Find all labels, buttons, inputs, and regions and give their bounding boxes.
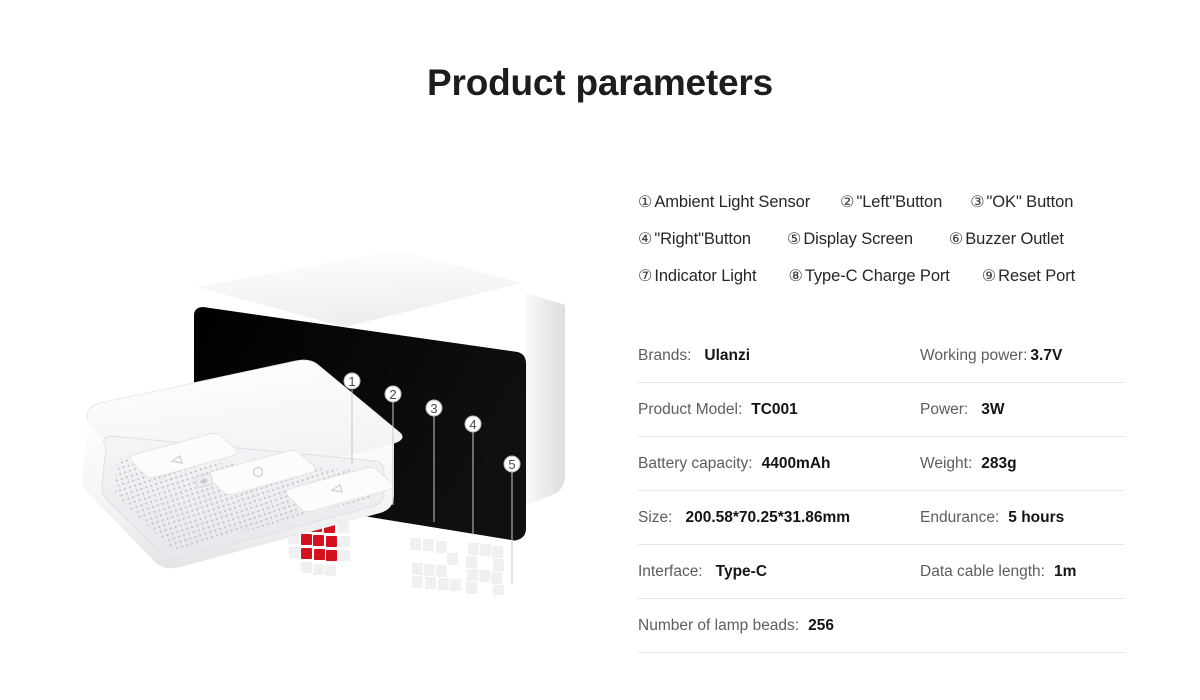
legend-label: Reset Port <box>998 267 1075 286</box>
table-row: Number of lamp beads: 256 <box>638 599 1124 653</box>
legend-item-6: ⑥ Buzzer Outlet <box>949 229 1064 249</box>
spec-value: 4400mAh <box>762 455 831 473</box>
legend-item-8: ⑧ Type-C Charge Port <box>789 266 950 286</box>
spec-cell-brands: Brands: Ulanzi <box>638 347 920 365</box>
table-row: Battery capacity: 4400mAh Weight: 283g <box>638 437 1124 491</box>
spec-cell-working-power: Working power: 3.7V <box>920 347 1124 365</box>
spec-cell-data-cable-length: Data cable length: 1m <box>920 563 1124 581</box>
legend-label: "OK" Button <box>987 193 1074 212</box>
circled-number-icon: ③ <box>970 192 984 212</box>
led-digit-ones <box>466 543 504 595</box>
spec-value: 1m <box>1054 563 1076 581</box>
spec-value: 5 hours <box>1008 509 1064 527</box>
spec-label: Endurance: <box>920 509 999 527</box>
spec-cell-weight: Weight: 283g <box>920 455 1124 473</box>
page-title: Product parameters <box>0 62 1200 104</box>
spec-label: Number of lamp beads: <box>638 617 799 635</box>
spec-label: Power: <box>920 401 968 419</box>
legend-label: Type-C Charge Port <box>805 267 950 286</box>
circled-number-icon: ① <box>638 192 652 212</box>
spec-cell-power: Power: 3W <box>920 401 1124 419</box>
spec-value: Type-C <box>716 563 767 581</box>
svg-text:3: 3 <box>430 401 437 416</box>
spec-value: TC001 <box>751 401 798 419</box>
callout-2: 2 <box>385 386 401 402</box>
legend-item-2: ② "Left"Button <box>840 192 942 212</box>
info-column: ① Ambient Light Sensor ② "Left"Button ③ … <box>638 192 1128 653</box>
legend-item-1: ① Ambient Light Sensor <box>638 192 810 212</box>
spec-value: 283g <box>981 455 1016 473</box>
spec-cell-interface: Interface: Type-C <box>638 563 920 581</box>
legend-label: Indicator Light <box>654 267 756 286</box>
product-illustration: 1 2 3 4 5 6 7 8 <box>60 175 600 595</box>
spec-label: Product Model: <box>638 401 742 419</box>
callout-3: 3 <box>426 400 442 416</box>
parts-legend: ① Ambient Light Sensor ② "Left"Button ③ … <box>638 192 1128 303</box>
legend-label: Ambient Light Sensor <box>654 193 810 212</box>
circled-number-icon: ⑨ <box>982 266 996 286</box>
spec-value: 200.58*70.25*31.86mm <box>685 509 850 527</box>
spec-label: Data cable length: <box>920 563 1045 581</box>
led-digit-tens <box>410 538 461 591</box>
table-row: Product Model: TC001 Power: 3W <box>638 383 1124 437</box>
spec-label: Working power: <box>920 347 1027 365</box>
circled-number-icon: ⑧ <box>789 266 803 286</box>
spec-value: 3W <box>981 401 1004 419</box>
spec-cell-size: Size: 200.58*70.25*31.86mm <box>638 509 920 527</box>
legend-item-9: ⑨ Reset Port <box>982 266 1075 286</box>
callout-4: 4 <box>465 416 481 432</box>
legend-item-3: ③ "OK" Button <box>970 192 1073 212</box>
spec-value: 256 <box>808 617 834 635</box>
spec-label: Brands: <box>638 347 691 365</box>
legend-label: "Left"Button <box>856 193 942 212</box>
legend-row: ⑦ Indicator Light ⑧ Type-C Charge Port ⑨… <box>638 266 1128 303</box>
legend-item-5: ⑤ Display Screen <box>787 229 913 249</box>
table-row: Size: 200.58*70.25*31.86mm Endurance: 5 … <box>638 491 1124 545</box>
callout-5: 5 <box>504 456 520 472</box>
circled-number-icon: ⑥ <box>949 229 963 249</box>
legend-label: "Right"Button <box>654 230 751 249</box>
table-row: Interface: Type-C Data cable length: 1m <box>638 545 1124 599</box>
spec-cell-battery-capacity: Battery capacity: 4400mAh <box>638 455 920 473</box>
legend-row: ④ "Right"Button ⑤ Display Screen ⑥ Buzze… <box>638 229 1128 266</box>
device-right-cap <box>526 293 565 505</box>
legend-item-7: ⑦ Indicator Light <box>638 266 757 286</box>
spec-cell-endurance: Endurance: 5 hours <box>920 509 1124 527</box>
spec-label: Battery capacity: <box>638 455 753 473</box>
circled-number-icon: ⑦ <box>638 266 652 286</box>
legend-item-4: ④ "Right"Button <box>638 229 751 249</box>
svg-text:1: 1 <box>348 374 355 389</box>
callout-1: 1 <box>344 373 360 389</box>
legend-label: Buzzer Outlet <box>965 230 1064 249</box>
svg-text:2: 2 <box>389 387 396 402</box>
svg-text:4: 4 <box>469 417 476 432</box>
spec-value: 3.7V <box>1030 347 1062 365</box>
circled-number-icon: ⑤ <box>787 229 801 249</box>
circled-number-icon: ② <box>840 192 854 212</box>
svg-text:5: 5 <box>508 457 515 472</box>
spec-value: Ulanzi <box>704 347 750 365</box>
circled-number-icon: ④ <box>638 229 652 249</box>
spec-label: Weight: <box>920 455 972 473</box>
legend-label: Display Screen <box>803 230 913 249</box>
spec-label: Size: <box>638 509 672 527</box>
specification-table: Brands: Ulanzi Working power: 3.7V Produ… <box>638 329 1124 653</box>
spec-cell-product-model: Product Model: TC001 <box>638 401 920 419</box>
spec-label: Interface: <box>638 563 703 581</box>
legend-row: ① Ambient Light Sensor ② "Left"Button ③ … <box>638 192 1128 229</box>
spec-cell-lamp-beads: Number of lamp beads: 256 <box>638 617 920 635</box>
table-row: Brands: Ulanzi Working power: 3.7V <box>638 329 1124 383</box>
